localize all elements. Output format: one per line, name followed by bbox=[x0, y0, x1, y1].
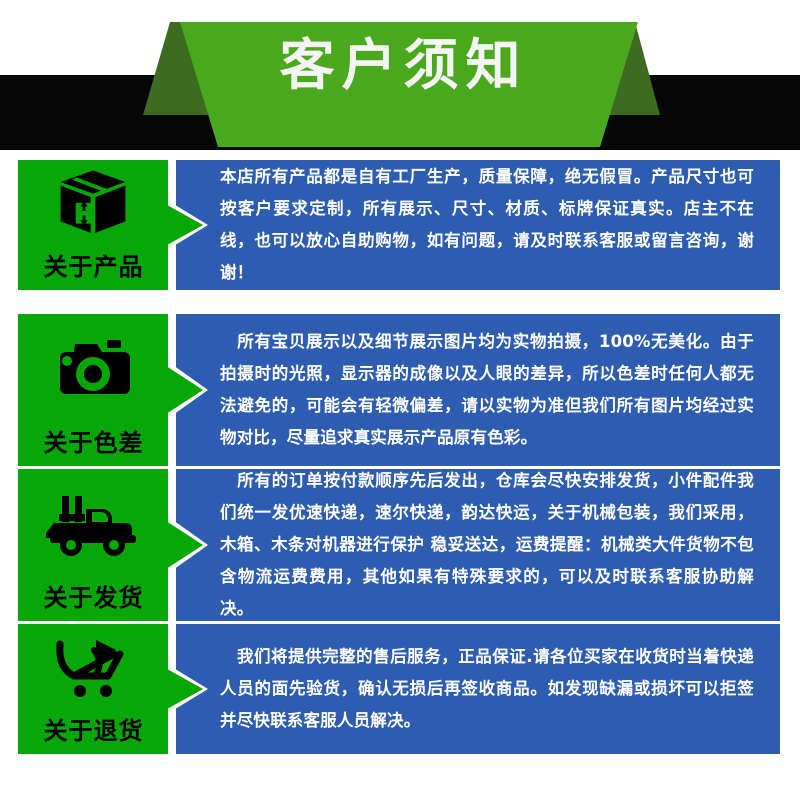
notice-text: 所有的订单按付款顺序先后发出，仓库会尽快安排发货，小件配件我们统一发优速快递，速… bbox=[176, 465, 780, 625]
text-panel-product: 本店所有产品都是自有工厂生产，质量保障，绝无假冒。产品尺寸也可按客户要求定制，所… bbox=[176, 160, 780, 290]
notice-text: 所有宝贝展示以及细节展示图片均为实物拍摄，100%无美化。由于拍摄时的光照，显示… bbox=[176, 326, 780, 454]
text-panel-return: 我们将提供完整的售后服务，正品保证.请各位买家在收货时当着快递人员的面先验货，确… bbox=[176, 624, 780, 754]
page-title: 客户须知 bbox=[0, 26, 800, 104]
icon-label: 关于退货 bbox=[18, 711, 168, 754]
notice-row: 关于色差 所有宝贝展示以及细节展示图片均为实物拍摄，100%无美化。由于拍摄时的… bbox=[0, 314, 800, 466]
icon-label: 关于产品 bbox=[18, 247, 168, 290]
camera-icon bbox=[18, 314, 168, 423]
notice-rows: 关于产品 本店所有产品都是自有工厂生产，质量保障，绝无假冒。产品尺寸也可按客户要… bbox=[0, 160, 800, 754]
notice-text: 本店所有产品都是自有工厂生产，质量保障，绝无假冒。产品尺寸也可按客户要求定制，所… bbox=[176, 161, 780, 289]
notice-text: 我们将提供完整的售后服务，正品保证.请各位买家在收货时当着快递人员的面先验货，确… bbox=[176, 641, 780, 737]
icon-card-shipping[interactable]: 关于发货 bbox=[18, 469, 203, 621]
notice-row: 关于产品 本店所有产品都是自有工厂生产，质量保障，绝无假冒。产品尺寸也可按客户要… bbox=[0, 160, 800, 290]
icon-label: 关于发货 bbox=[18, 578, 168, 621]
icon-label: 关于色差 bbox=[18, 423, 168, 466]
package-box-icon bbox=[18, 160, 168, 247]
text-panel-color: 所有宝贝展示以及细节展示图片均为实物拍摄，100%无美化。由于拍摄时的光照，显示… bbox=[176, 314, 780, 466]
notice-row: 关于退货 我们将提供完整的售后服务，正品保证.请各位买家在收货时当着快递人员的面… bbox=[0, 624, 800, 754]
header-banner: 客户须知 bbox=[0, 0, 800, 160]
text-panel-shipping: 所有的订单按付款顺序先后发出，仓库会尽快安排发货，小件配件我们统一发优速快递，速… bbox=[176, 469, 780, 621]
icon-card-color[interactable]: 关于色差 bbox=[18, 314, 203, 466]
notice-row: 关于发货 所有的订单按付款顺序先后发出，仓库会尽快安排发货，小件配件我们统一发优… bbox=[0, 469, 800, 621]
icon-card-return[interactable]: 关于退货 bbox=[18, 624, 203, 754]
icon-card-product[interactable]: 关于产品 bbox=[18, 160, 203, 290]
forklift-truck-icon bbox=[18, 469, 168, 578]
return-cart-icon bbox=[18, 624, 168, 711]
